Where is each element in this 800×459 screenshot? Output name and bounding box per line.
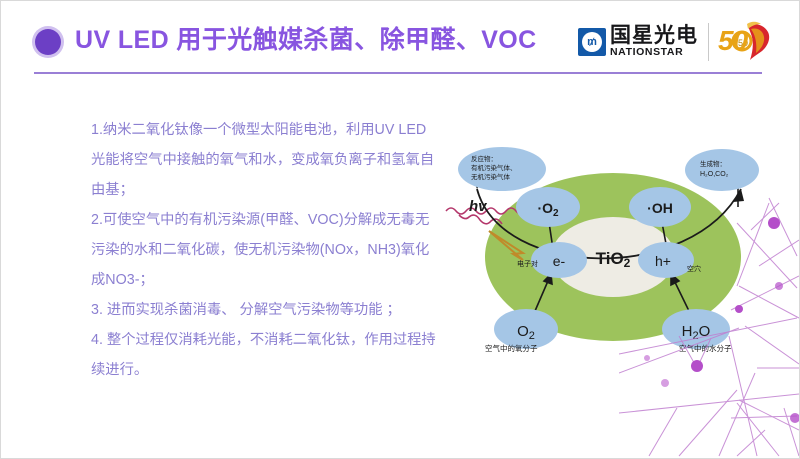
brand-name-en: NATIONSTAR <box>610 46 698 59</box>
photocatalysis-diagram: TiO2 hv <box>441 129 786 364</box>
air-water-label: 空气中的水分子 <box>679 343 732 353</box>
electron-pair-label: 电子对 <box>517 259 538 268</box>
slide-canvas: UV LED 用于光触媒杀菌、除甲醛、VOC ₥ 国星光电 NATIONSTAR… <box>0 0 800 459</box>
radical-oh-node: ·OH <box>629 187 691 227</box>
reactants-callout: 反应物： 有机污染气体、 无机污染气体 <box>458 147 546 191</box>
electron-node: e- <box>531 242 587 278</box>
body-paragraph-4: 4. 整个过程仅消耗光能，不消耗二氧化钛，作用过程持续进行。 <box>91 325 436 385</box>
hole-node-label: h+ <box>655 253 671 269</box>
air-oxygen-label: 空气中的氧分子 <box>485 343 538 353</box>
page-title: UV LED 用于光触媒杀菌、除甲醛、VOC <box>75 21 537 59</box>
body-paragraph-2: 2.可使空气中的有机污染源(甲醛、VOC)分解成无毒无污染的水和二氧化碳，使无机… <box>91 205 436 295</box>
nationstar-m-mark-icon: ₥ <box>578 28 606 56</box>
brand-logo: ₥ 国星光电 NATIONSTAR 50 50 <box>578 21 774 63</box>
radical-o2-node: ·O2 <box>516 187 580 227</box>
body-copy: 1.纳米二氧化钛像一个微型太阳能电池，利用UV LED光能将空气中接触的氧气和水… <box>91 115 436 385</box>
radical-oh-label: ·OH <box>647 200 673 216</box>
brand-mark-glyph: ₥ <box>582 32 602 52</box>
reactants-line-2: 有机污染气体、 <box>471 163 517 172</box>
electron-label: e- <box>553 253 566 269</box>
photon-label: hv <box>469 198 488 215</box>
filled-circle-bullet-icon <box>35 29 61 55</box>
slide-header: UV LED 用于光触媒杀菌、除甲醛、VOC ₥ 国星光电 NATIONSTAR… <box>1 1 800 79</box>
hole-node: h+ <box>638 242 694 278</box>
oxygen-node: O2 <box>494 309 558 349</box>
water-node: H2O <box>662 309 730 349</box>
reactants-line-1: 反应物： <box>471 154 497 163</box>
body-paragraph-1: 1.纳米二氧化钛像一个微型太阳能电池，利用UV LED光能将空气中接触的氧气和水… <box>91 115 436 205</box>
products-line-1: 生成物： <box>700 159 726 168</box>
products-line-2: H₂O,CO₂ <box>700 171 729 178</box>
brand-names: 国星光电 NATIONSTAR <box>610 25 698 59</box>
brand-name-cn: 国星光电 <box>610 25 698 46</box>
products-callout: 生成物： H₂O,CO₂ <box>685 149 759 191</box>
anniversary-badge: 50 50 <box>718 20 774 64</box>
brand-separator <box>708 23 709 61</box>
hole-label: 空穴 <box>687 264 701 273</box>
title-divider <box>34 72 762 74</box>
reactants-line-3: 无机污染气体 <box>471 172 511 181</box>
anniversary-number: 50 <box>718 24 747 58</box>
body-paragraph-3: 3. 进而实现杀菌消毒、 分解空气污染物等功能 ； <box>91 295 436 325</box>
